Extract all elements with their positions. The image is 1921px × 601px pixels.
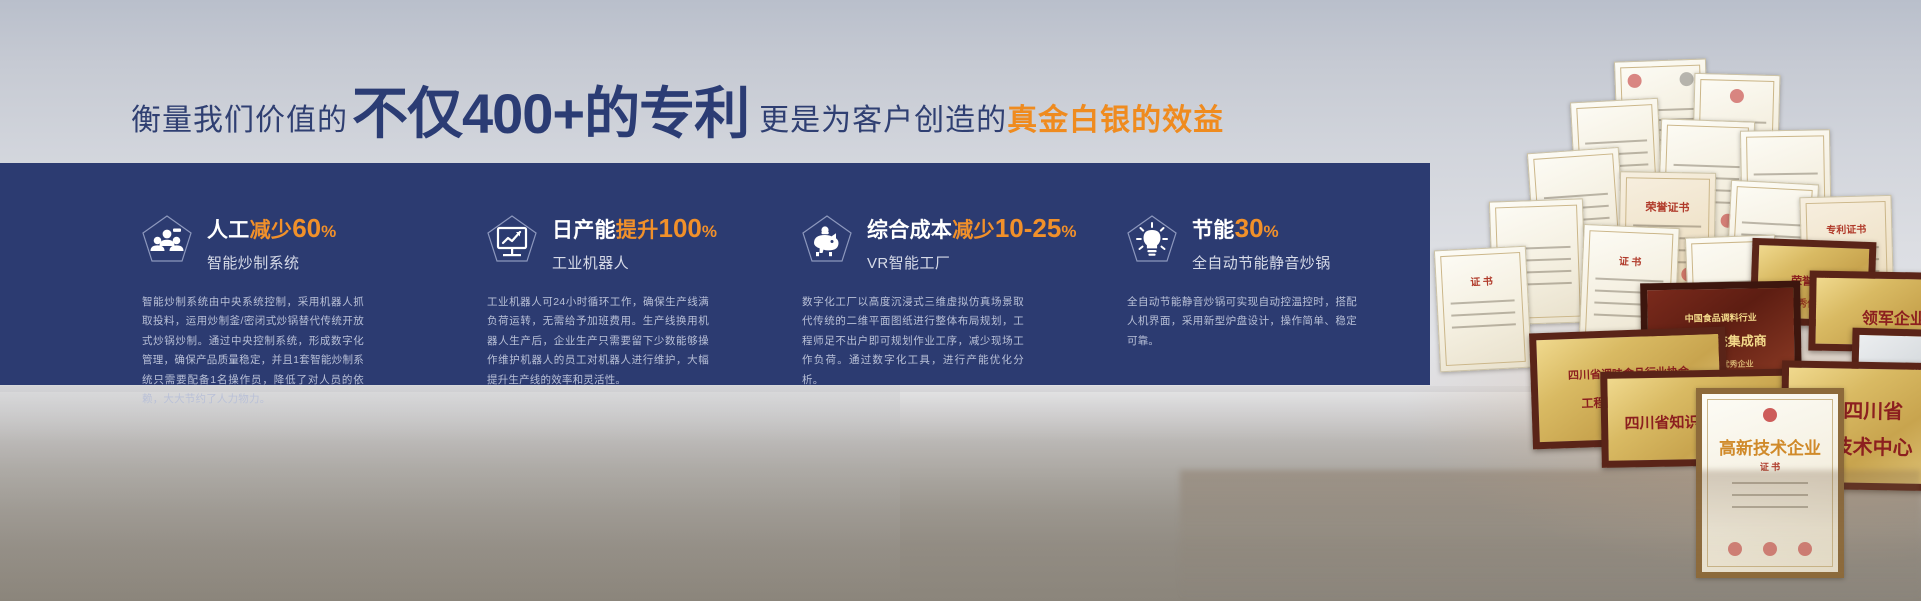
feature-subtitle: VR智能工厂 — [867, 252, 1077, 273]
feature-card-cost: 综合成本减少10-25% VR智能工厂 数字化工厂以高度沉浸式三维虚拟仿真场景取… — [801, 163, 1131, 385]
feature-percent: % — [1264, 222, 1279, 241]
feature-percent: % — [1061, 222, 1076, 241]
feature-card-labor: 人工减少60% 智能炒制系统 智能炒制系统由中央系统控制，采用机器人抓取投料，运… — [141, 163, 471, 385]
feature-title-accent: 减少 — [250, 219, 293, 242]
feature-card-energy: 节能30% 全自动节能静音炒锅 全自动节能静音炒锅可实现自动控温控时，搭配人机界… — [1126, 163, 1456, 385]
headline-lead: 衡量我们价值的 — [131, 106, 348, 136]
feature-title-prefix: 节能 — [1192, 219, 1235, 242]
feature-title-prefix: 综合成本 — [867, 219, 952, 242]
feature-number: 30 — [1235, 213, 1264, 243]
piggy-bank-icon — [801, 214, 853, 272]
people-group-icon — [141, 214, 193, 272]
chart-board-icon — [486, 214, 538, 272]
feature-title-accent: 提升 — [616, 219, 659, 242]
feature-description: 全自动节能静音炒锅可实现自动控温控时，搭配人机界面，采用新型炉盘设计，操作简单、… — [1127, 293, 1357, 351]
feature-number: 10-25 — [995, 213, 1062, 243]
promo-banner: 荣誉证书 专利证书 证 书 证 书 — [0, 0, 1921, 601]
feature-subtitle: 智能炒制系统 — [207, 252, 337, 273]
feature-title-prefix: 人工 — [207, 219, 250, 242]
feature-percent: % — [702, 222, 717, 241]
headline-emphasis: 不仅400+的专利 — [352, 86, 749, 142]
feature-number: 100 — [659, 213, 702, 243]
pile-reflection — [1180, 470, 1921, 601]
feature-card-capacity: 日产能提升100% 工业机器人 工业机器人可24小时循环工作，确保生产线满负荷运… — [486, 163, 816, 385]
headline-mid: 更是为客户创造的 — [759, 106, 1007, 136]
feature-title: 节能30% — [1192, 219, 1279, 242]
light-bulb-icon — [1126, 214, 1178, 272]
page-title: 衡量我们价值的 不仅400+的专利 更是为客户创造的 真金白银的效益 — [131, 83, 1224, 139]
feature-title-accent: 减少 — [952, 219, 995, 242]
feature-title: 人工减少60% — [207, 219, 337, 242]
feature-description: 智能炒制系统由中央系统控制，采用机器人抓取投料，运用炒制釜/密闭式炒锅替代传统开… — [142, 293, 364, 410]
feature-percent: % — [321, 222, 336, 241]
features-panel: 人工减少60% 智能炒制系统 智能炒制系统由中央系统控制，采用机器人抓取投料，运… — [0, 163, 1430, 385]
feature-subtitle: 工业机器人 — [552, 252, 717, 273]
feature-number: 60 — [292, 213, 321, 243]
feature-title: 日产能提升100% — [552, 219, 717, 242]
headline-highlight: 真金白银的效益 — [1007, 106, 1224, 136]
feature-description: 工业机器人可24小时循环工作，确保生产线满负荷运转，无需给予加班费用。生产线换用… — [487, 293, 709, 390]
feature-description: 数字化工厂以高度沉浸式三维虚拟仿真场景取代传统的二维平面图纸进行整体布局规划，工… — [802, 293, 1024, 390]
feature-title-prefix: 日产能 — [552, 219, 616, 242]
feature-title: 综合成本减少10-25% — [867, 219, 1077, 242]
feature-subtitle: 全自动节能静音炒锅 — [1192, 252, 1331, 273]
